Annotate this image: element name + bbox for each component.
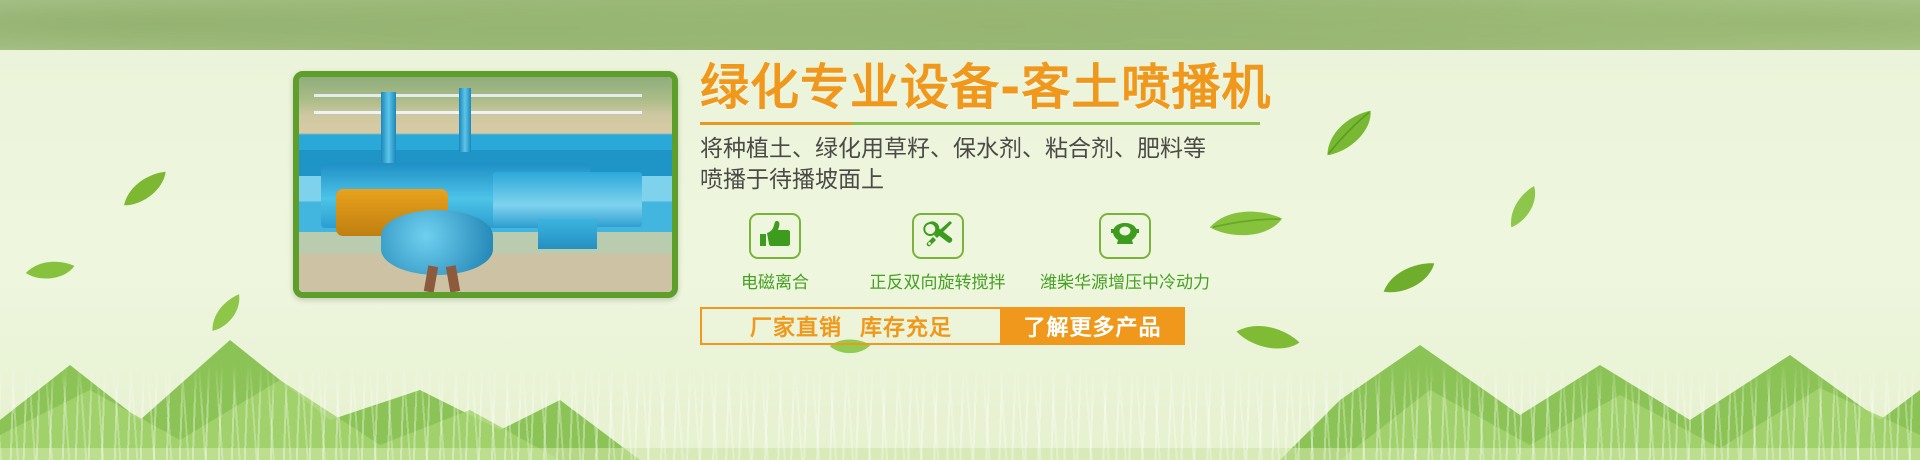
cta-tag-factory-direct: 厂家直销 — [750, 310, 842, 342]
title-divider — [700, 122, 1260, 125]
engine-gear-icon — [1109, 220, 1141, 252]
banner-content: 绿化专业设备-客土喷播机 将种植土、绿化用草籽、保水剂、粘合剂、肥料等 喷播于待… — [700, 62, 1420, 345]
tree-foliage-dark — [0, 0, 1920, 50]
cta-row: 厂家直销 库存充足 了解更多产品 — [700, 307, 1185, 345]
feature-label-3: 潍柴华源增压中冷动力 — [1025, 268, 1225, 293]
learn-more-button[interactable]: 了解更多产品 — [1000, 307, 1185, 345]
feature-icon-box-2 — [912, 213, 964, 259]
feature-icon-box-1 — [749, 213, 801, 259]
cta-tag-in-stock: 库存充足 — [860, 310, 952, 342]
divider-orange-segment — [700, 122, 852, 125]
feature-label-2: 正反双向旋转搅拌 — [850, 268, 1025, 293]
leaf-decoration-7 — [115, 168, 174, 209]
feature-item-bidirectional-mixing: 正反双向旋转搅拌 — [850, 213, 1025, 293]
banner-subtitle: 将种植土、绿化用草籽、保水剂、粘合剂、肥料等 喷播于待播坡面上 — [700, 134, 1420, 196]
product-photo — [299, 77, 672, 292]
feature-list: 电磁离合 正反双向旋转搅拌 — [700, 213, 1420, 293]
subtitle-line-2: 喷播于待播坡面上 — [700, 165, 1420, 196]
feature-item-engine-power: 潍柴华源增压中冷动力 — [1025, 213, 1225, 293]
leaf-decoration-5 — [1498, 184, 1547, 230]
promo-banner: 绿化专业设备-客土喷播机 将种植土、绿化用草籽、保水剂、粘合剂、肥料等 喷播于待… — [0, 0, 1920, 460]
divider-green-segment — [852, 122, 1260, 125]
product-photo-frame — [293, 71, 678, 298]
subtitle-line-1: 将种植土、绿化用草籽、保水剂、粘合剂、肥料等 — [700, 134, 1420, 165]
cta-tags: 厂家直销 库存充足 — [700, 307, 1000, 345]
tools-wrench-screwdriver-icon — [922, 219, 954, 253]
leaf-decoration-9 — [202, 292, 251, 334]
grass-texture — [0, 364, 1920, 460]
banner-title: 绿化专业设备-客土喷播机 — [700, 62, 1420, 115]
feature-item-electromagnetic-clutch: 电磁离合 — [700, 213, 850, 293]
thumbs-up-icon — [759, 220, 791, 252]
feature-label-1: 电磁离合 — [700, 268, 850, 293]
feature-icon-box-3 — [1099, 213, 1151, 259]
leaf-decoration-8 — [24, 253, 76, 286]
